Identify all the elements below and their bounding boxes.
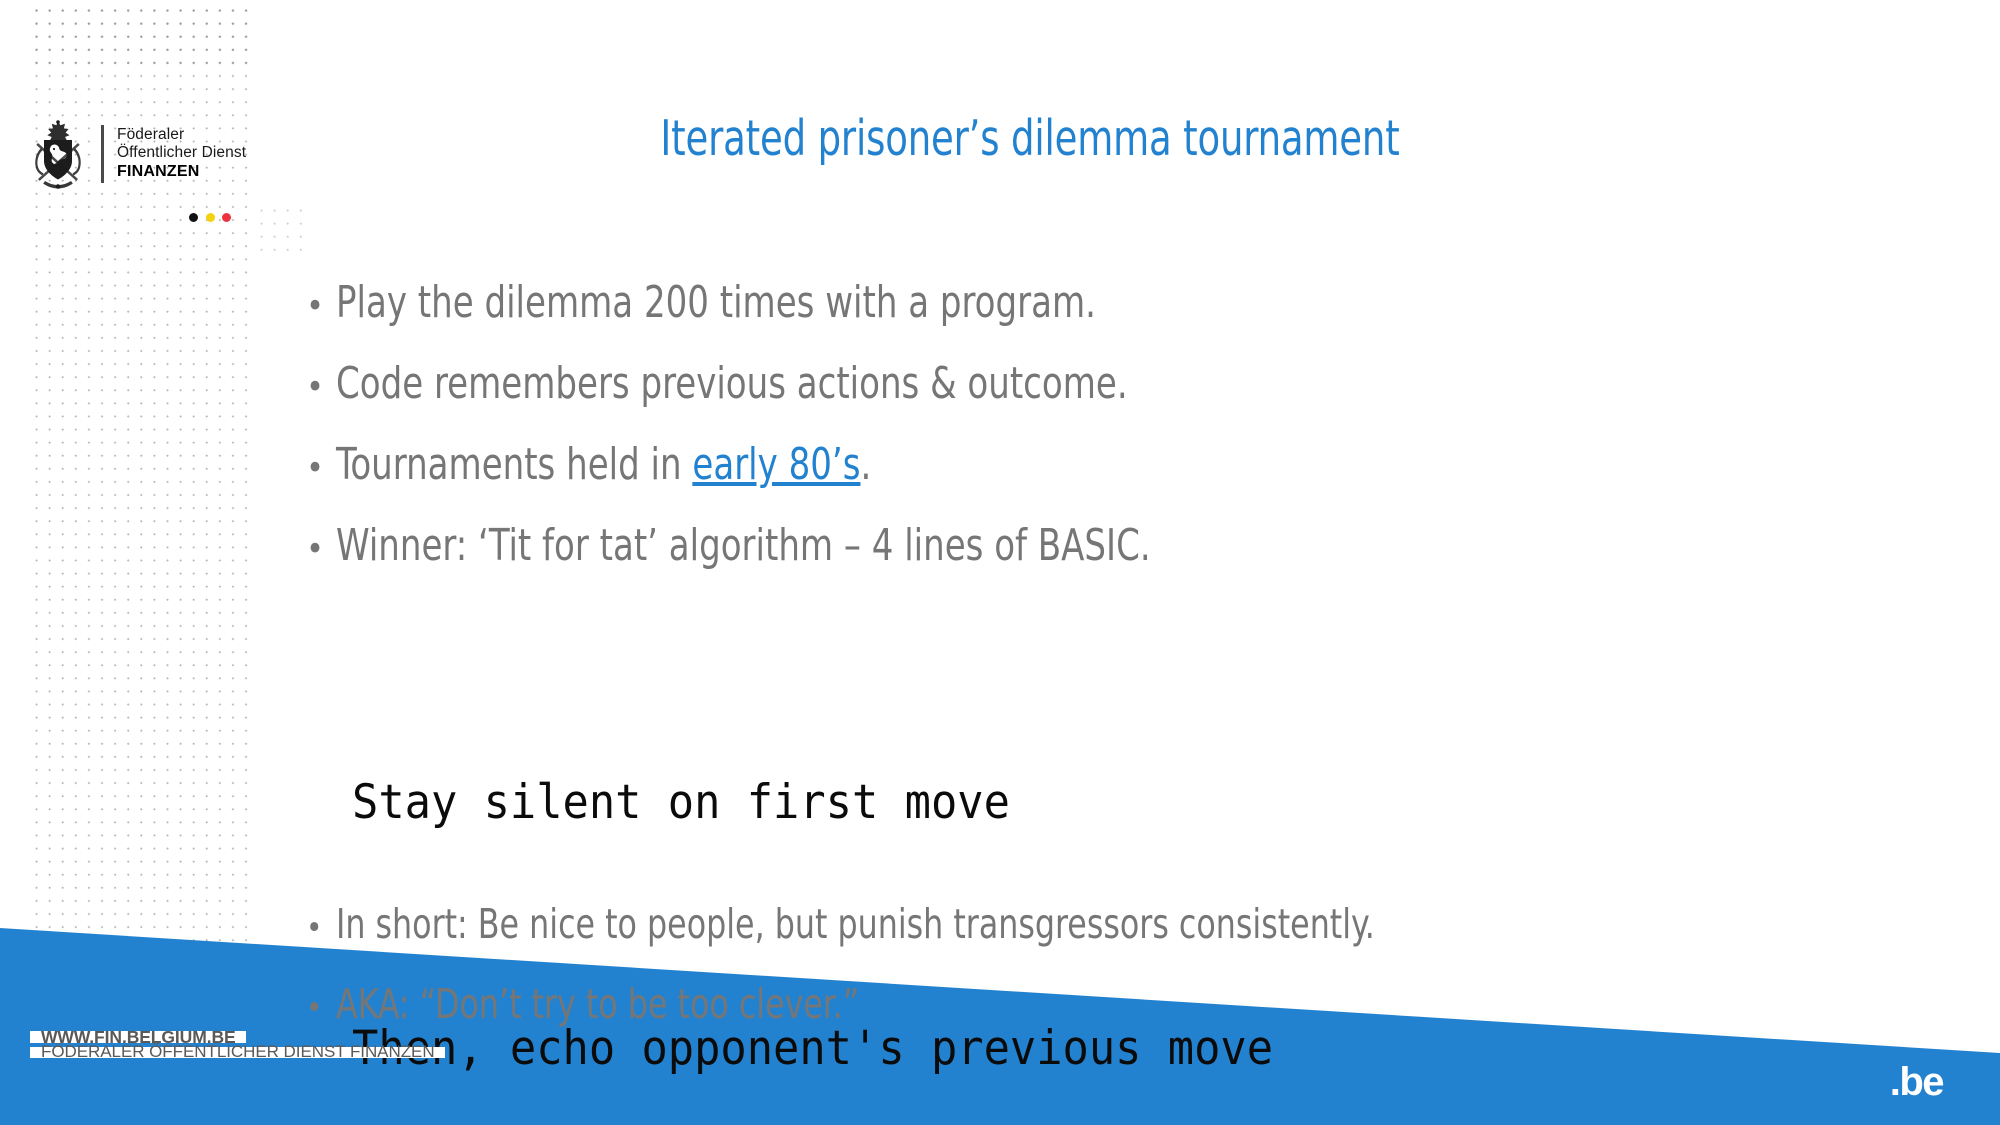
- early-80s-link[interactable]: early 80’s: [692, 439, 860, 490]
- code-line-1: Stay silent on first move: [352, 762, 1273, 844]
- list-item-label: Winner: ‘Tit for tat’ algorithm – 4 line…: [336, 507, 1151, 585]
- bullet-list: • Play the dilemma 200 times with a prog…: [306, 264, 1926, 588]
- list-item-prefix: Tournaments held in: [336, 439, 692, 490]
- list-item-label: Play the dilemma 200 times with a progra…: [336, 264, 1096, 342]
- bullet-marker-icon: •: [306, 348, 336, 426]
- list-item-label: In short: Be nice to people, but punish …: [336, 886, 1375, 962]
- be-domain-mark: .be: [1890, 1062, 1943, 1102]
- page-title: Iterated prisoner’s dilemma tournament: [467, 110, 1593, 167]
- bullet-marker-icon: •: [306, 267, 336, 345]
- list-item-label: Code remembers previous actions & outcom…: [336, 345, 1128, 423]
- belgian-flag-dots: [189, 213, 231, 222]
- list-item-suffix: .: [860, 439, 871, 490]
- list-item-label: Tournaments held in early 80’s.: [336, 426, 871, 504]
- footer-labels: WWW.FIN.BELGIUM.BE FÖDERALER ÖFFENTLICHE…: [30, 1031, 445, 1058]
- dot-grid-pattern-top: [30, 0, 258, 75]
- list-item: • Play the dilemma 200 times with a prog…: [306, 264, 1926, 345]
- bullet-list-secondary: • In short: Be nice to people, but punis…: [306, 886, 1926, 1046]
- list-item: • In short: Be nice to people, but punis…: [306, 886, 1926, 966]
- logo-line-1: Föderaler: [117, 126, 246, 144]
- logo-line-3: FINANZEN: [117, 163, 246, 182]
- flag-dot-red: [222, 213, 231, 222]
- flag-dot-black: [189, 213, 198, 222]
- list-item: • AKA: “Don’t try to be too clever.”: [306, 966, 1926, 1046]
- list-item: • Tournaments held in early 80’s.: [306, 426, 1926, 507]
- organization-logo: Föderaler Öffentlicher Dienst FINANZEN: [27, 118, 246, 190]
- logo-wordmark: Föderaler Öffentlicher Dienst FINANZEN: [117, 126, 246, 182]
- bullet-marker-icon: •: [306, 510, 336, 588]
- flag-dot-yellow: [206, 213, 215, 222]
- list-item: • Winner: ‘Tit for tat’ algorithm – 4 li…: [306, 507, 1926, 588]
- logo-divider: [101, 125, 104, 183]
- footer-department-label: FÖDERALER ÖFFENTLICHER DIENST FINANZEN: [30, 1047, 445, 1058]
- list-item: • Code remembers previous actions & outc…: [306, 345, 1926, 426]
- slide-canvas: Föderaler Öffentlicher Dienst FINANZEN I…: [0, 0, 2000, 1125]
- bullet-marker-icon: •: [306, 890, 336, 966]
- footer-department-row: FÖDERALER ÖFFENTLICHER DIENST FINANZEN: [30, 1047, 445, 1058]
- dot-grid-pattern-patch: [255, 200, 305, 252]
- belgian-coat-of-arms-icon: [27, 118, 89, 190]
- logo-line-2: Öffentlicher Dienst: [117, 144, 246, 162]
- bullet-marker-icon: •: [306, 429, 336, 507]
